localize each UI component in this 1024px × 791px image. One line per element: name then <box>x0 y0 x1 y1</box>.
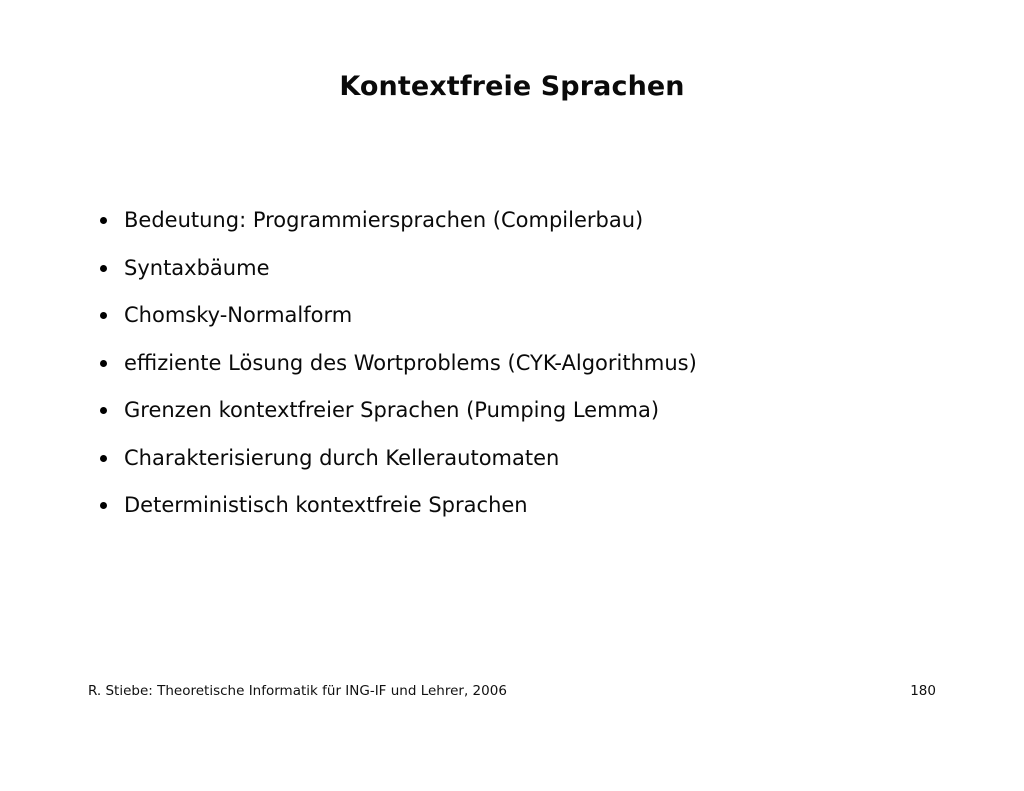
bullet-dot-icon <box>100 265 107 272</box>
bullet-dot-icon <box>100 217 107 224</box>
footer-page-number: 180 <box>910 682 936 700</box>
list-item-label: Chomsky-Normalform <box>124 300 352 330</box>
bullet-dot-icon <box>100 502 107 509</box>
list-item: Charakterisierung durch Kellerautomaten <box>98 443 958 491</box>
list-item-label: Syntaxbäume <box>124 253 269 283</box>
list-item: Bedeutung: Programmiersprachen (Compiler… <box>98 205 958 253</box>
slide-footer: R. Stiebe: Theoretische Informatik für I… <box>88 682 936 702</box>
slide-canvas: Kontextfreie Sprachen Bedeutung: Program… <box>0 0 1024 791</box>
bullet-dot-icon <box>100 360 107 367</box>
bullet-list: Bedeutung: Programmiersprachen (Compiler… <box>98 205 958 538</box>
list-item-label: Bedeutung: Programmiersprachen (Compiler… <box>124 205 643 235</box>
list-item-label: Charakterisierung durch Kellerautomaten <box>124 443 559 473</box>
bullet-dot-icon <box>100 407 107 414</box>
list-item: Grenzen kontextfreier Sprachen (Pumping … <box>98 395 958 443</box>
list-item: effiziente Lösung des Wortproblems (CYK-… <box>98 348 958 396</box>
page-title: Kontextfreie Sprachen <box>0 70 1024 104</box>
list-item: Syntaxbäume <box>98 253 958 301</box>
list-item: Chomsky-Normalform <box>98 300 958 348</box>
bullet-dot-icon <box>100 455 107 462</box>
footer-credit: R. Stiebe: Theoretische Informatik für I… <box>88 682 507 700</box>
list-item-label: effiziente Lösung des Wortproblems (CYK-… <box>124 348 697 378</box>
list-item-label: Grenzen kontextfreier Sprachen (Pumping … <box>124 395 659 425</box>
list-item-label: Deterministisch kontextfreie Sprachen <box>124 490 528 520</box>
bullet-dot-icon <box>100 312 107 319</box>
list-item: Deterministisch kontextfreie Sprachen <box>98 490 958 538</box>
